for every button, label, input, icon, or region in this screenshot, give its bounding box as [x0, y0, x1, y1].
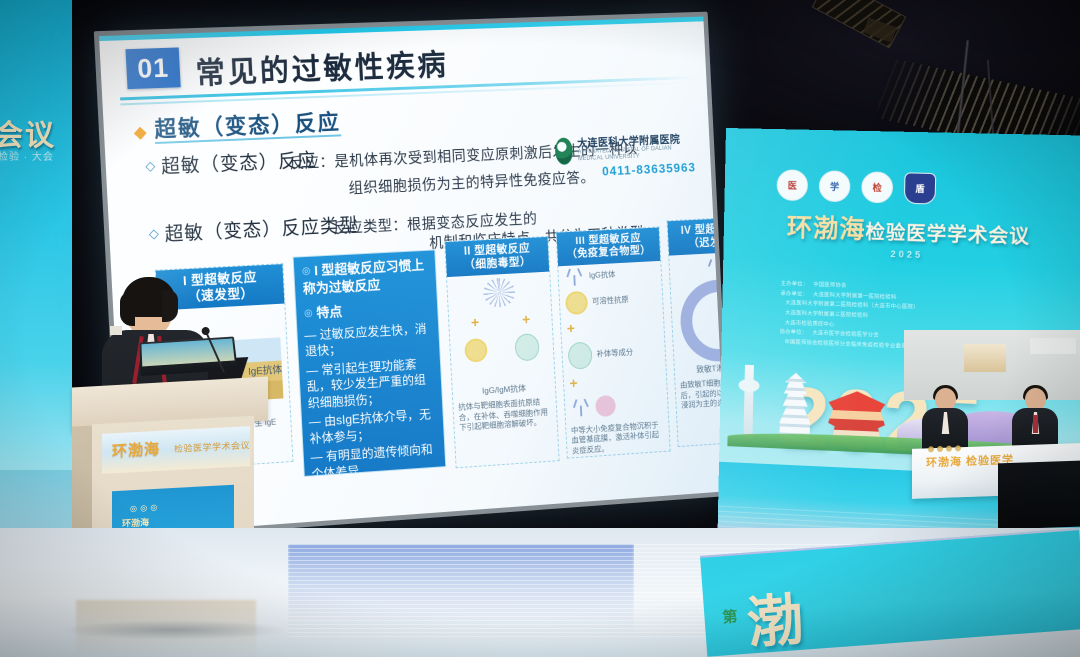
podium-banner-main: 环渤海 [112, 438, 160, 462]
slide-box-type-1-detail: ◎I 型超敏反应习惯上称为过敏反应 ◎特点 — 过敏反应发生快，消退快； — 常… [293, 249, 447, 477]
box-bullet: — 由sIgE抗体介导，无补体参与； [308, 407, 437, 448]
speaker-badge-icon [110, 326, 122, 335]
plus-row: + + [449, 310, 552, 332]
plus-icon: + [566, 320, 575, 337]
soluble-antigen-icon [565, 291, 588, 315]
legend-label: 可溶性抗原 [592, 295, 629, 308]
box-bullet: — 常引起生理功能紊乱，较少发生严重的组织细胞损伤； [306, 355, 436, 411]
slide-body-line-2: 组织细胞损伤为主的特异性免疫应答。 [348, 166, 595, 198]
podium-banner: 环渤海 检验医学学术会议 [102, 426, 250, 474]
org-logo-icon-2: 学 [819, 170, 851, 202]
circle-bullet-icon-2: ◎ [304, 308, 313, 319]
box-illustration: + + [447, 275, 555, 387]
legend-label: IgG抗体 [589, 269, 616, 281]
box-legend-list: IgG抗体 可溶性抗原 + 补体等成分 + [558, 261, 668, 422]
wall-artwork-icon [964, 344, 1006, 372]
slide-section-heading: ◆超敏（变态）反应 [133, 105, 342, 145]
plus-icon: + [569, 375, 578, 392]
neutrophil-icon [570, 398, 591, 417]
box-note: 由致敏T细胞再次接触抗原后，引起的以单个核细胞浸润为主的炎症反应。 [675, 371, 727, 412]
diamond-bullet-icon: ◆ [133, 122, 149, 142]
target-cell-icon [464, 338, 488, 363]
wall-panel-icon [1030, 338, 1076, 354]
panel-monitor [998, 461, 1080, 530]
apron-small-glyph: 第 [722, 605, 739, 627]
left-banner-subtext: 检验 · 大会 [0, 148, 74, 163]
left-wall-banner: 会议 检验 · 大会 [0, 0, 72, 585]
slide-box-type-3: III 型超敏反应（免疫复合物型） IgG抗体 可溶性抗原 + [556, 226, 671, 458]
panel-table-area: 环渤海 检验医学 [912, 388, 1080, 528]
hospital-emblem-icon [555, 137, 574, 165]
box-note: 抗体与靶细胞表面抗原结合，在补体、吞噬细胞作用下引起靶细胞溶解破坏。 [453, 392, 557, 434]
cell-row [450, 332, 554, 365]
complement-icon [568, 341, 593, 369]
plus-icon: + [471, 314, 480, 331]
box-bullet-list: — 过敏反应发生快，消退快； — 常引起生理功能紊乱，较少发生严重的组织细胞损伤… [297, 320, 445, 477]
org-logo-icon-4: 盾 [904, 172, 936, 204]
ige-antibody-label: IgE抗体 [248, 361, 283, 378]
slide-title: 常见的过敏性疾病 [194, 40, 449, 92]
org-logo-icon-1: 医 [776, 169, 808, 201]
panelist-tie [1033, 415, 1038, 433]
box-note: 中等大小免疫复合物沉积于血管基底膜，激活补体引起炎症反应。 [566, 415, 670, 457]
box-header: II 型超敏反应（细胞毒型） [445, 237, 549, 277]
backdrop-title-main: 环渤海 [787, 214, 866, 244]
slide-level2-item-2: ◇超敏（变态）反应类型 [148, 210, 359, 247]
apron-large-glyph: 渤 [744, 575, 808, 657]
conference-hall-photo: 会议 检验 · 大会 01 常见的过敏性疾病 ◆超敏（变态）反应 ◇超敏（变态）… [0, 0, 1080, 657]
backdrop-title-rest: 检验医学学术会议 [865, 222, 1030, 248]
circle-bullet-icon: ◎ [302, 266, 311, 277]
box-bullet: — 过敏反应发生快，消退快； [304, 320, 433, 360]
complement-cell-icon [514, 333, 539, 361]
backdrop-title: 环渤海检验医学学术会议 2025 [739, 206, 1079, 264]
speaker-hair-right [162, 290, 178, 322]
legend-label: 补体等成分 [596, 347, 633, 360]
box-bullet: — 有明显的遗传倾向和个体差异。 [310, 441, 439, 476]
hospital-name-block: 大连医科大学附属医院 AFFILIATED HOSPITAL OF DALIAN… [577, 133, 683, 163]
hospital-phone: 0411-83635963 [602, 160, 696, 179]
speaker-hair-left [120, 292, 135, 326]
podium-banner-sub: 检验医学学术会议 [174, 438, 250, 455]
tv-tower-icon [743, 365, 754, 441]
igg-antibody-icon [564, 268, 585, 286]
organization-logos: 医 学 检 盾 [776, 169, 936, 204]
slide-box-type-2: II 型超敏反应（细胞毒型） + + IgG/IgM抗体 抗体与靶细胞表面抗原结… [444, 236, 559, 468]
table-logo-dots [928, 445, 961, 452]
podium-lcd-logo-row: ◎ ◎ ◎ [130, 503, 158, 513]
slide-section-badge: 01 [125, 47, 180, 89]
hollow-diamond-icon: ◇ [145, 158, 157, 173]
backdrop-credits: 主办单位：中国医师协会 承办单位：大连医科大学附属第一医院检验科 大连医科大学附… [779, 280, 919, 353]
antibody-burst-icon [483, 277, 516, 308]
panelist-1 [922, 388, 968, 450]
hollow-diamond-icon-2: ◇ [149, 226, 161, 241]
podium-shadow [60, 620, 290, 640]
neutrophil-cell-icon [595, 395, 616, 417]
panelist-2 [1012, 388, 1058, 450]
box-header: III 型超敏反应（免疫复合物型） [556, 227, 660, 266]
plus-icon: + [522, 311, 531, 328]
org-logo-icon-3: 检 [861, 171, 893, 203]
